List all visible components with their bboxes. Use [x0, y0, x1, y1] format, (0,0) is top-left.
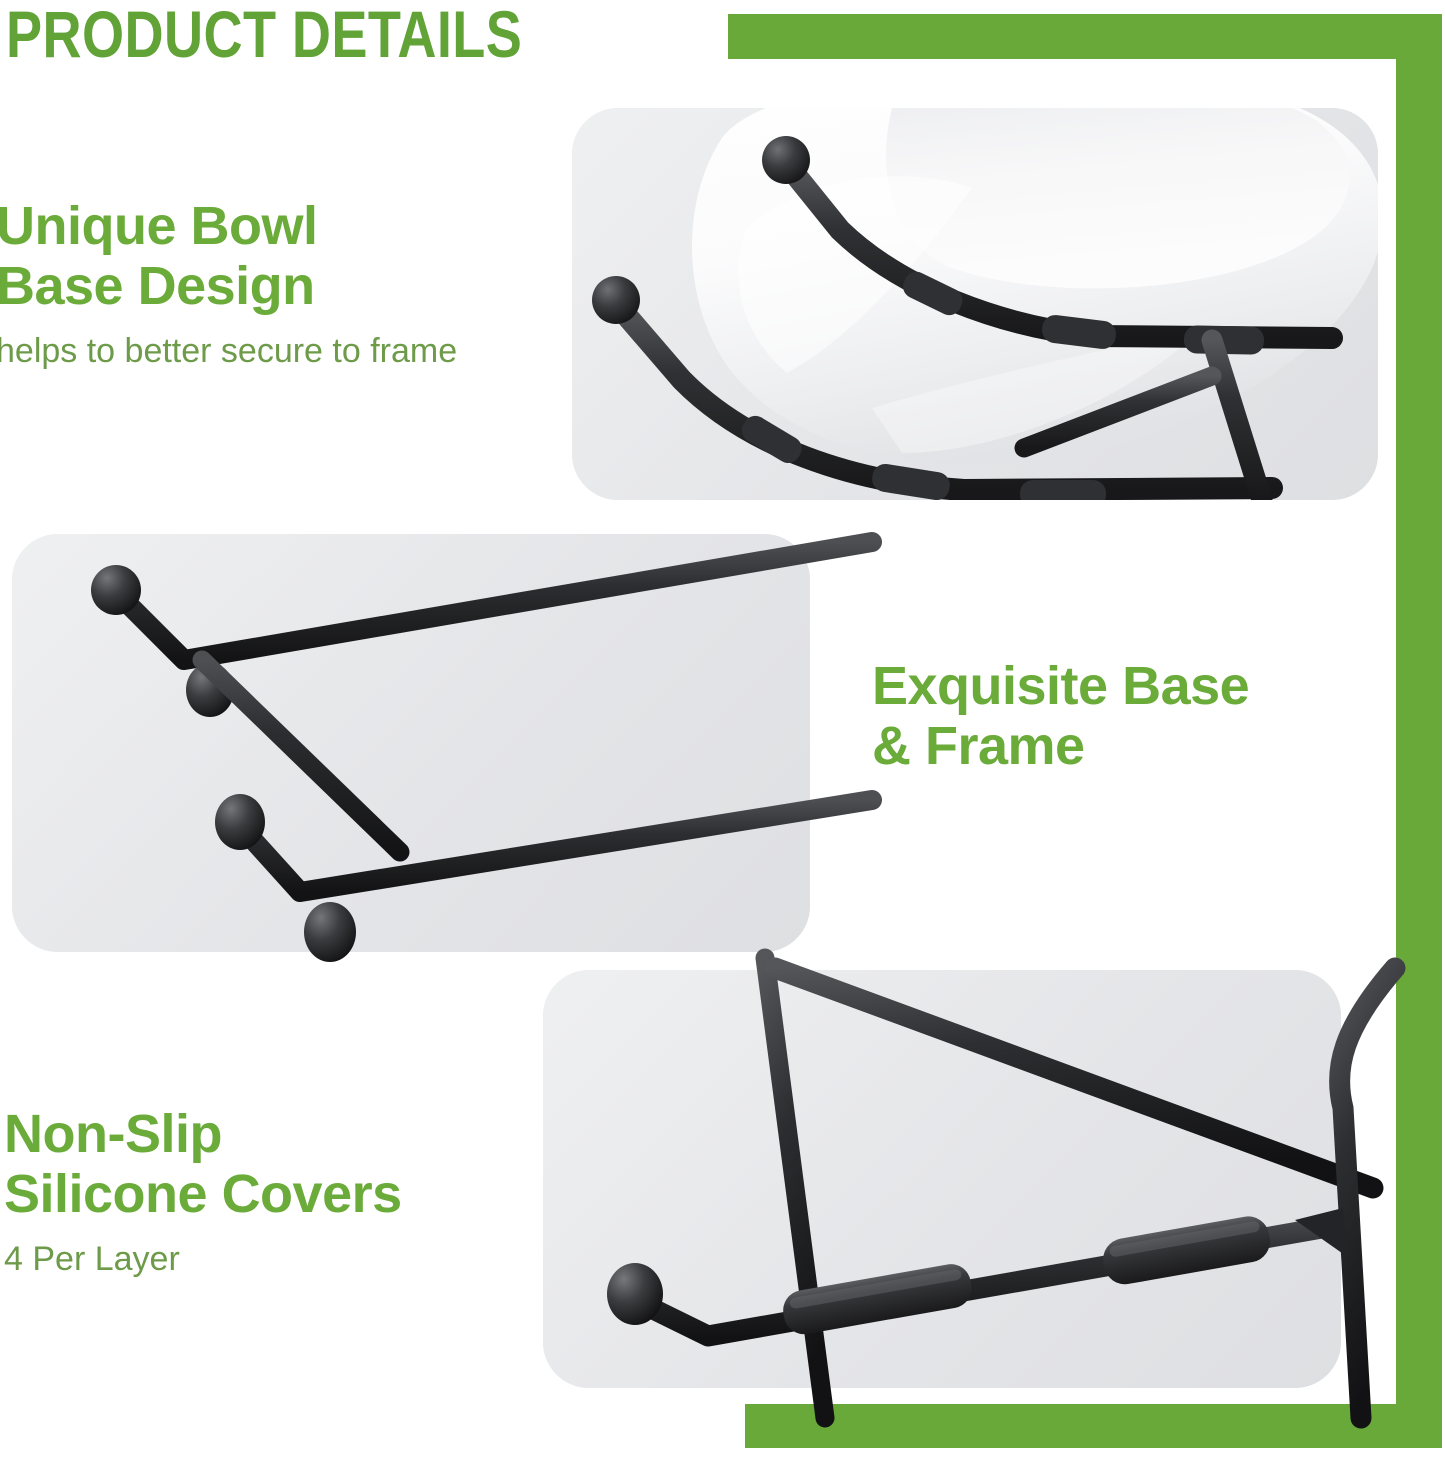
feature-subtitle-bowl-base: helps to better secure to frame — [0, 331, 457, 372]
product-details-page: PRODUCT DETAILS Unique Bowl Base Design … — [0, 0, 1445, 1458]
feature-image-bowl-base — [572, 108, 1378, 500]
feature-text-bowl-base: Unique Bowl Base Design helps to better … — [0, 196, 457, 372]
feature-text-base-frame: Exquisite Base & Frame — [872, 656, 1249, 777]
feature-subtitle-silicone-covers: 4 Per Layer — [4, 1239, 402, 1280]
feature-heading-silicone-covers: Non-Slip Silicone Covers — [4, 1104, 402, 1225]
feature-heading-bowl-base: Unique Bowl Base Design — [0, 196, 457, 317]
page-title: PRODUCT DETAILS — [6, 0, 522, 72]
feature-text-silicone-covers: Non-Slip Silicone Covers 4 Per Layer — [4, 1104, 402, 1280]
feature-heading-base-frame: Exquisite Base & Frame — [872, 656, 1249, 777]
green-top-bar — [728, 14, 1400, 59]
silicone-covers-illustration — [543, 958, 1445, 1418]
base-frame-illustration — [12, 500, 872, 970]
bowl-base-illustration — [572, 108, 1378, 500]
